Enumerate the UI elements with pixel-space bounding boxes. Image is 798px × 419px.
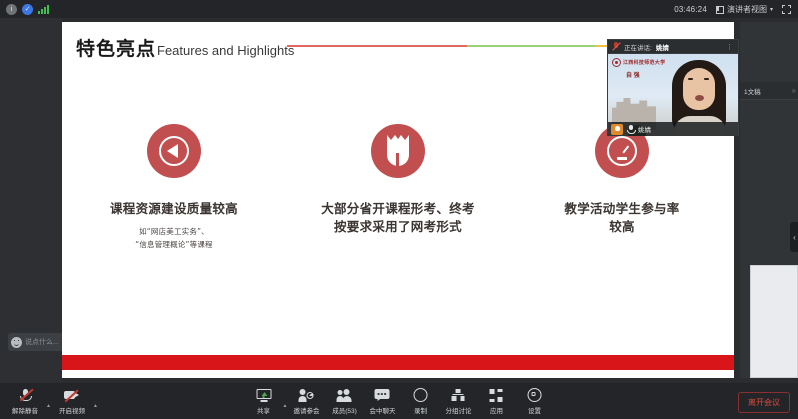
start-video-label: 开启视频	[59, 405, 85, 415]
share-screen-icon	[256, 388, 271, 403]
feature-heading-line: 按要求采用了网考形式	[321, 218, 475, 236]
feature-column: 课程资源建设质量较高 如“网店美工实务”、 “信息管理概论”等课程	[62, 124, 286, 252]
slide-title-en: Features and Highlights	[157, 43, 294, 58]
university-logo: 江西科技师范大学	[612, 58, 665, 67]
unmute-label: 解除静音	[12, 405, 38, 415]
video-feed: 江西科技师范大学 自 强 姚婧	[608, 54, 738, 136]
play-circle-icon	[147, 124, 201, 178]
logo-subtext: 自 强	[626, 70, 640, 79]
slide-title-group: 特色亮点 Features and Highlights	[76, 34, 294, 61]
feature-heading-line: 教学活动学生参与率	[564, 200, 679, 218]
members-icon	[336, 388, 352, 403]
camera-off-icon	[64, 388, 80, 403]
chat-input-placeholder[interactable]: 说点什么...	[25, 337, 59, 347]
invite-label: 邀请参会	[293, 405, 319, 415]
mic-options-chevron-icon[interactable]: ▲	[46, 403, 51, 415]
toolbar-center-group: 共享 ▲ 邀请参会 成员(53) 会中聊天	[245, 388, 554, 415]
record-label: 录制	[414, 405, 427, 415]
info-icon[interactable]: i	[6, 4, 17, 15]
speaker-video-tile[interactable]: 正在讲话: 姚婧 ⋮ 江西科技师范大学 自 强	[607, 39, 739, 136]
presenter-view-icon	[716, 5, 724, 13]
top-bar-right-controls: 03:46:24 演讲者视图 ▾	[674, 4, 798, 15]
invite-button[interactable]: 邀请参会	[287, 388, 325, 415]
settings-button[interactable]: 设置	[515, 388, 553, 415]
apps-button[interactable]: 应用	[477, 388, 515, 415]
start-video-button[interactable]: 开启视频	[53, 388, 91, 415]
fullscreen-icon[interactable]	[782, 5, 791, 14]
feature-heading-line: 较高	[564, 218, 679, 236]
right-panel-header: 1文稿 »	[740, 82, 798, 100]
bottom-toolbar: 解除静音 ▲ 开启视频 ▲ 共享 ▲	[0, 383, 798, 419]
double-chevron-icon[interactable]: »	[792, 86, 794, 95]
feature-column: 大部分省开课程形考、终考 按要求采用了网考形式	[286, 124, 510, 252]
crown-shield-icon	[371, 124, 425, 178]
mic-icon[interactable]	[627, 125, 634, 134]
mic-muted-icon	[612, 42, 620, 51]
thumbnail-card[interactable]	[750, 265, 798, 378]
feature-heading-line: 大部分省开课程形考、终考	[321, 200, 475, 218]
feature-heading: 课程资源建设质量较高	[110, 200, 238, 218]
apps-icon	[490, 388, 503, 403]
left-side-panel: 说点什么...	[0, 18, 62, 383]
feature-columns: 课程资源建设质量较高 如“网店美工实务”、 “信息管理概论”等课程 大部分省开课…	[62, 124, 734, 252]
top-bar-left-icons: i ✓	[0, 4, 49, 15]
meeting-timer: 03:46:24	[674, 5, 707, 14]
apps-label: 应用	[490, 405, 503, 415]
feature-column: 教学活动学生参与率 较高	[510, 124, 734, 252]
avatar-icon	[611, 124, 623, 135]
logo-text: 江西科技师范大学	[623, 59, 665, 66]
settings-label: 设置	[528, 405, 541, 415]
chevron-down-icon[interactable]: ▾	[770, 6, 773, 13]
video-tile-footer: 姚婧	[608, 122, 738, 136]
share-screen-label: 共享	[257, 405, 270, 415]
invite-icon	[299, 388, 314, 403]
unmute-button[interactable]: 解除静音	[6, 388, 44, 415]
meeting-window: i ✓ 03:46:24 演讲者视图 ▾ 说点什么... 特色亮点 Fea	[0, 0, 798, 419]
presenter-view-label: 演讲者视图	[727, 4, 767, 15]
video-options-chevron-icon[interactable]: ▲	[93, 403, 98, 415]
members-label: 成员(53)	[332, 405, 357, 415]
presenter-view-switch[interactable]: 演讲者视图 ▾	[716, 4, 773, 15]
more-options-icon[interactable]: ⋮	[726, 43, 734, 51]
chat-label: 会中聊天	[369, 405, 395, 415]
toolbar-left-group: 解除静音 ▲ 开启视频 ▲	[0, 388, 98, 415]
feature-subtext: 如“网店美工实务”、 “信息管理概论”等课程	[135, 226, 212, 252]
feature-subtext-line: “信息管理概论”等课程	[135, 239, 212, 252]
feature-heading: 教学活动学生参与率 较高	[564, 200, 679, 236]
feature-subtext-line: 如“网店美工实务”、	[135, 226, 212, 239]
right-docked-panel: 1文稿 » ‹	[740, 22, 798, 378]
video-tile-header: 正在讲话: 姚婧 ⋮	[608, 40, 738, 54]
record-button[interactable]: 录制	[401, 388, 439, 415]
right-panel-title: 1文稿	[744, 86, 761, 96]
logo-mark-icon	[612, 58, 621, 67]
mic-muted-icon	[19, 388, 31, 403]
emoji-icon[interactable]	[11, 337, 22, 348]
feature-heading: 大部分省开课程形考、终考 按要求采用了网考形式	[321, 200, 475, 236]
slide-title-cn: 特色亮点	[76, 34, 156, 61]
speaker-name: 姚婧	[656, 42, 669, 52]
top-bar: i ✓ 03:46:24 演讲者视图 ▾	[0, 0, 798, 18]
video-footer-name: 姚婧	[638, 124, 651, 134]
speaking-label: 正在讲话:	[624, 42, 652, 52]
members-button[interactable]: 成员(53)	[325, 388, 363, 415]
breakout-label: 分组讨论	[445, 405, 471, 415]
record-icon	[413, 388, 427, 403]
signal-icon[interactable]	[38, 5, 49, 14]
slide-bottom-bar	[62, 355, 734, 370]
breakout-rooms-button[interactable]: 分组讨论	[439, 388, 477, 415]
chat-icon	[375, 388, 390, 403]
leave-meeting-button[interactable]: 离开会议	[738, 392, 790, 413]
chat-button[interactable]: 会中聊天	[363, 388, 401, 415]
shield-icon[interactable]: ✓	[22, 4, 33, 15]
settings-icon	[527, 388, 541, 403]
breakout-icon	[451, 388, 466, 403]
chevron-left-icon[interactable]: ‹	[790, 222, 798, 252]
share-screen-button[interactable]: 共享	[245, 388, 283, 415]
